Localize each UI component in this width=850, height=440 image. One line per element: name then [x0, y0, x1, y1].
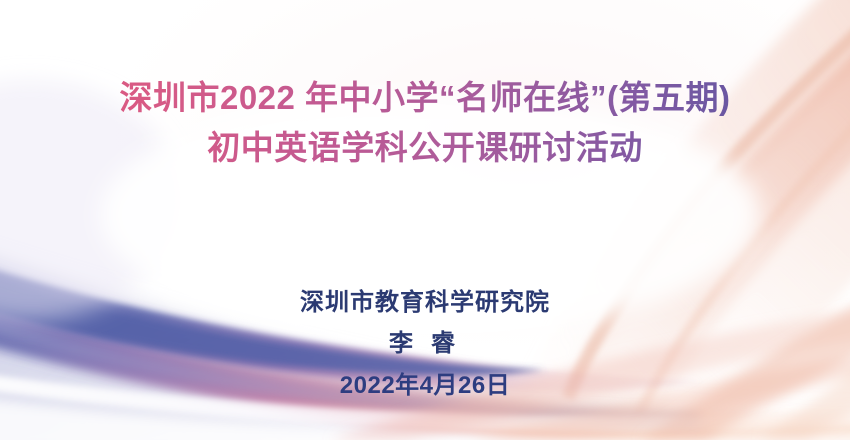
- title-line-1: 深圳市2022 年中小学“名师在线”(第五期): [0, 76, 850, 120]
- slide-content: 深圳市2022 年中小学“名师在线”(第五期) 初中英语学科公开课研讨活动 深圳…: [0, 0, 850, 440]
- organization-name: 深圳市教育科学研究院: [0, 288, 850, 318]
- speaker-name: 李 睿: [0, 329, 850, 359]
- slide-title: 深圳市2022 年中小学“名师在线”(第五期) 初中英语学科公开课研讨活动: [0, 76, 850, 170]
- title-line-2: 初中英语学科公开课研讨活动: [0, 126, 850, 170]
- presenter-info: 深圳市教育科学研究院 李 睿 2022年4月26日: [0, 288, 850, 401]
- event-date: 2022年4月26日: [0, 371, 850, 401]
- title-slide: 深圳市2022 年中小学“名师在线”(第五期) 初中英语学科公开课研讨活动 深圳…: [0, 0, 850, 440]
